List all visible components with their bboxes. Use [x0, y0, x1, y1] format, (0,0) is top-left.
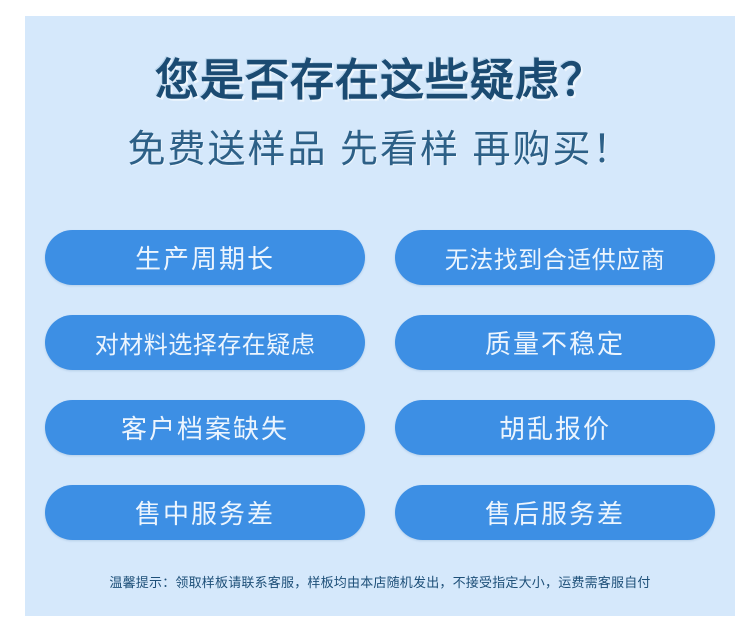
concern-pill-poor-in-sale-service[interactable]: 售中服务差 — [45, 485, 365, 540]
headline-block: 您是否存在这些疑虑？ 免费送样品 先看样 再购买！ — [25, 16, 735, 172]
page-title: 您是否存在这些疑虑？ — [25, 16, 735, 107]
concern-pill-quality-unstable[interactable]: 质量不稳定 — [395, 315, 715, 370]
concern-pill-customer-file-missing[interactable]: 客户档案缺失 — [45, 400, 365, 455]
concern-pill-random-quotation[interactable]: 胡乱报价 — [395, 400, 715, 455]
concern-pill-grid: 生产周期长 无法找到合适供应商 对材料选择存在疑虑 质量不稳定 客户档案缺失 胡… — [45, 230, 715, 540]
promo-banner: 您是否存在这些疑虑？ 免费送样品 先看样 再购买！ 生产周期长 无法找到合适供应… — [25, 16, 735, 616]
footer-tip-note: 温馨提示：领取样板请联系客服，样板均由本店随机发出，不接受指定大小，运费需客服自… — [25, 572, 735, 591]
concern-pill-material-selection-doubt[interactable]: 对材料选择存在疑虑 — [45, 315, 365, 370]
concern-pill-cannot-find-supplier[interactable]: 无法找到合适供应商 — [395, 230, 715, 285]
concern-pill-production-cycle-long[interactable]: 生产周期长 — [45, 230, 365, 285]
concern-pill-poor-after-sale-service[interactable]: 售后服务差 — [395, 485, 715, 540]
page-subtitle: 免费送样品 先看样 再购买！ — [25, 107, 735, 173]
